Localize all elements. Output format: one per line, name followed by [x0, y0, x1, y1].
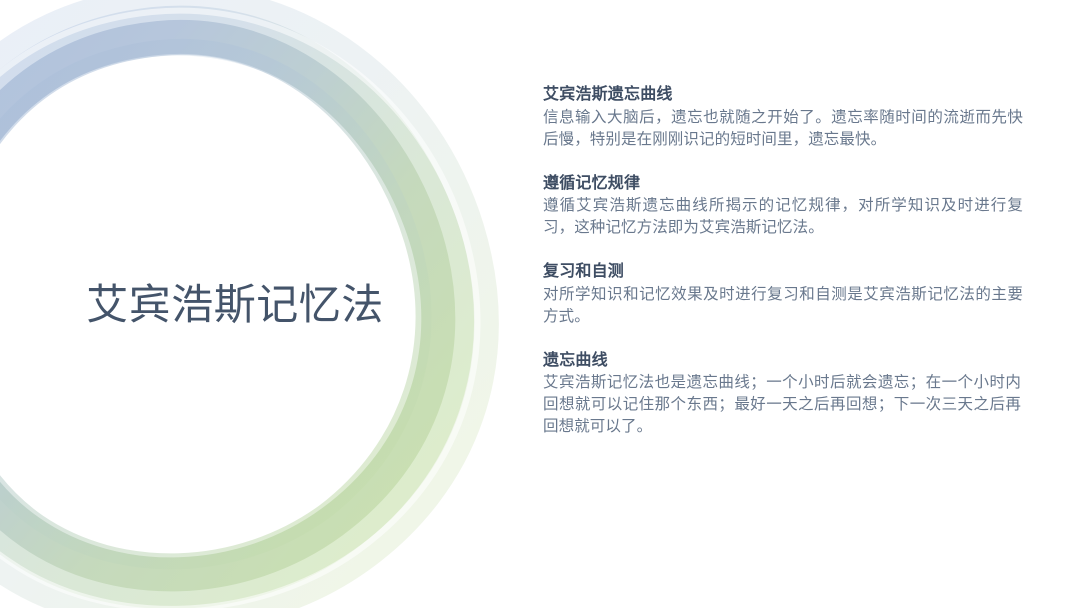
section-heading: 艾宾浩斯遗忘曲线: [543, 84, 1023, 106]
section-body: 信息输入大脑后，遗忘也就随之开始了。遗忘率随时间的流逝而先快后慢，特别是在刚刚识…: [543, 107, 1023, 151]
section-body: 对所学知识和记忆效果及时进行复习和自测是艾宾浩斯记忆法的主要方式。: [543, 284, 1023, 328]
title-area: 艾宾浩斯记忆法: [0, 274, 470, 336]
content-section: 遗忘曲线 艾宾浩斯记忆法也是遗忘曲线；一个小时后就会遗忘；在一个小时内回想就可以…: [543, 350, 1023, 439]
content-section: 复习和自测 对所学知识和记忆效果及时进行复习和自测是艾宾浩斯记忆法的主要方式。: [543, 261, 1023, 328]
content-section: 艾宾浩斯遗忘曲线 信息输入大脑后，遗忘也就随之开始了。遗忘率随时间的流逝而先快后…: [543, 84, 1023, 151]
page-title: 艾宾浩斯记忆法: [86, 282, 384, 328]
section-body: 遵循艾宾浩斯遗忘曲线所揭示的记忆规律，对所学知识及时进行复习，这种记忆方法即为艾…: [543, 195, 1023, 239]
content-section: 遵循记忆规律 遵循艾宾浩斯遗忘曲线所揭示的记忆规律，对所学知识及时进行复习，这种…: [543, 173, 1023, 240]
section-heading: 遵循记忆规律: [543, 173, 1023, 195]
content-column: 艾宾浩斯遗忘曲线 信息输入大脑后，遗忘也就随之开始了。遗忘率随时间的流逝而先快后…: [543, 84, 1023, 438]
section-heading: 复习和自测: [543, 261, 1023, 283]
slide-canvas: 艾宾浩斯记忆法 艾宾浩斯遗忘曲线 信息输入大脑后，遗忘也就随之开始了。遗忘率随时…: [0, 0, 1080, 608]
section-heading: 遗忘曲线: [543, 350, 1023, 372]
section-body: 艾宾浩斯记忆法也是遗忘曲线；一个小时后就会遗忘；在一个小时内回想就可以记住那个东…: [543, 372, 1021, 438]
